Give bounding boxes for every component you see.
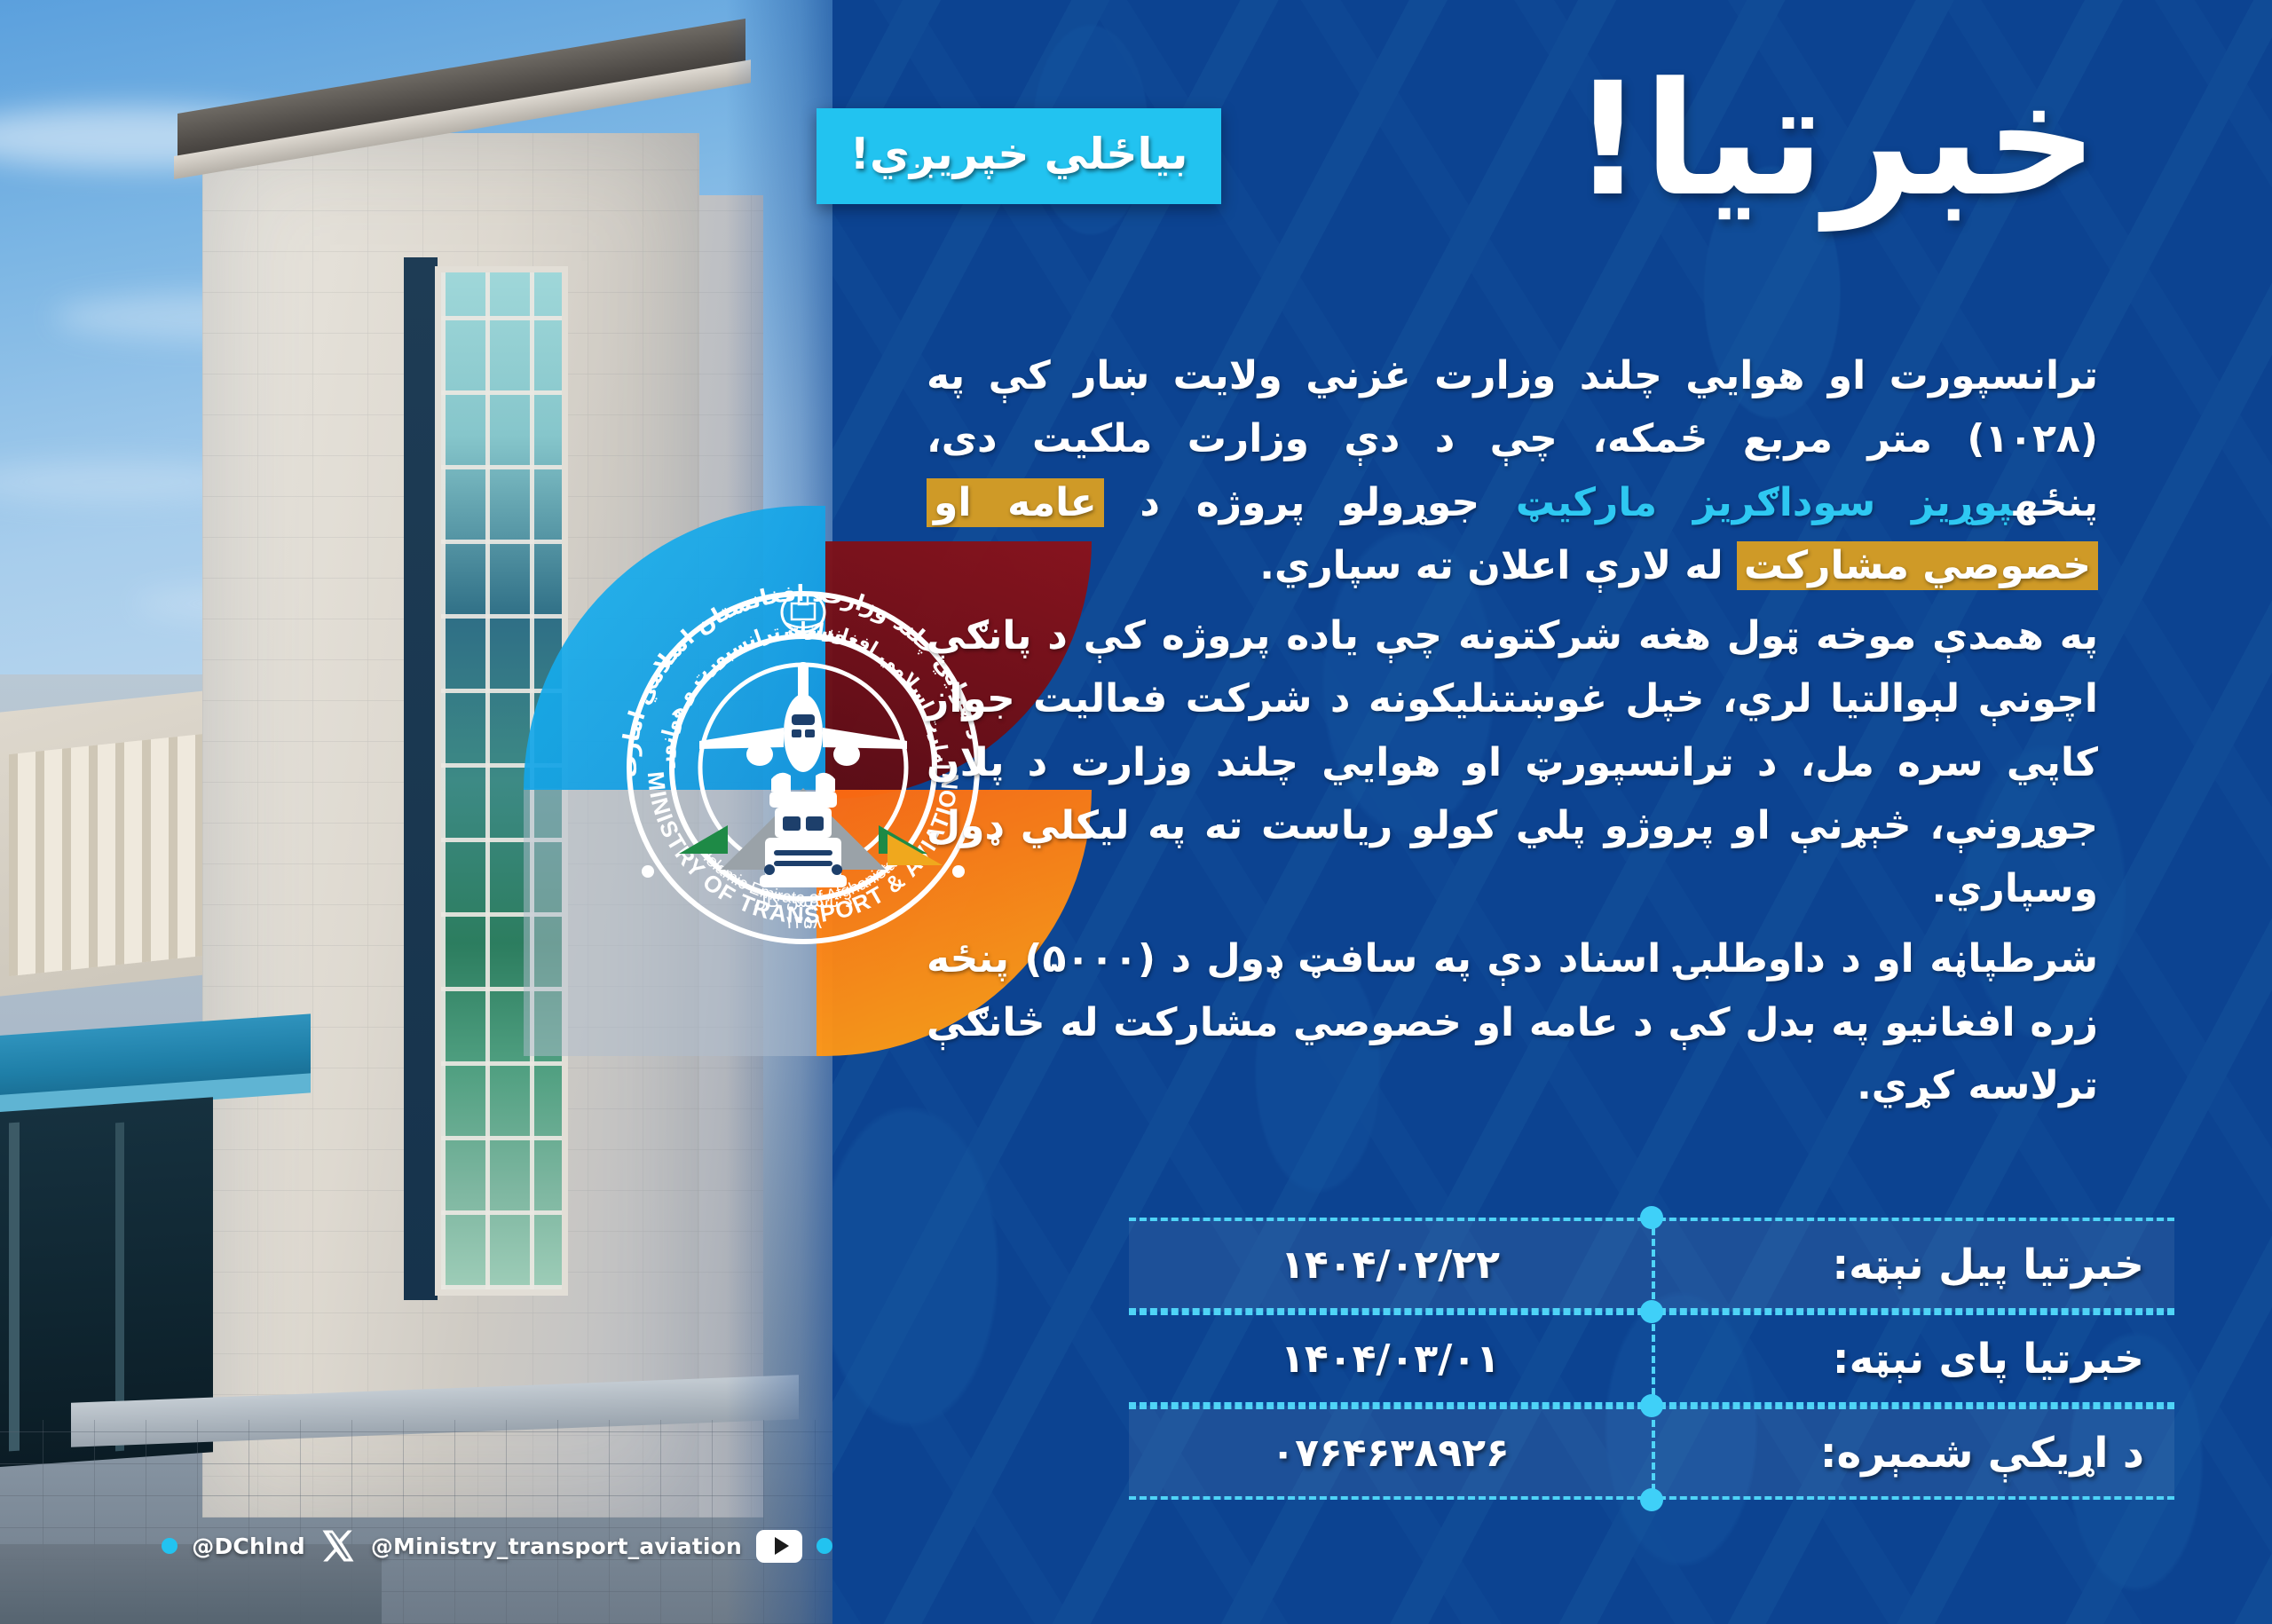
door-frame: [9, 1123, 20, 1452]
airplane-icon: [699, 662, 907, 772]
p1-part-c: جوړولو پروژه د: [1104, 480, 1516, 525]
badge-label: بیاځلي خپریږي!: [850, 132, 1188, 181]
social-bar: @Ministry_transport_aviation @DChlnd: [0, 1519, 832, 1573]
table-vertical-divider: [1652, 1218, 1655, 1502]
row-value: ۱۴۰۴/۰۲/۲۲: [1129, 1242, 1652, 1288]
p1-part-e: له لارې اعلان ته سپاري.: [1259, 543, 1737, 588]
poster-canvas: @Ministry_transport_aviation @DChlnd د ا…: [0, 0, 2272, 1624]
row-label: خبرتیا پیل نېټه:: [1652, 1241, 2174, 1289]
page-title: خبرتیا!: [1573, 62, 2098, 218]
divider-dot-icon: [1640, 1300, 1663, 1323]
paragraph-3: شرطپاڼه او د داوطلبۍ اسناد دې په سافټ ډو…: [927, 927, 2098, 1117]
row-label: د اړیکې شمېره:: [1652, 1429, 2174, 1478]
announcement-body: ترانسپورت او هوايي چلند وزارت غزني ولايت…: [927, 344, 2098, 1124]
paragraph-2: په همدې موخه ټول هغه شرکتونه چې یاده پرو…: [927, 604, 2098, 920]
bullet-dot-icon: [162, 1538, 177, 1554]
bullet-dot-icon: [816, 1538, 832, 1554]
x-twitter-icon[interactable]: [319, 1527, 357, 1565]
divider-dot-icon: [1640, 1206, 1663, 1229]
republish-badge: بیاځلي خپریږي!: [816, 108, 1221, 204]
row-value: ۱۴۰۴/۰۳/۰۱: [1129, 1336, 1652, 1382]
youtube-handle[interactable]: @Ministry_transport_aviation: [371, 1533, 742, 1559]
paragraph-1: ترانسپورت او هوايي چلند وزارت غزني ولايت…: [927, 344, 2098, 597]
youtube-icon[interactable]: [756, 1530, 802, 1563]
info-table: خبرتیا پیل نېټه: ۱۴۰۴/۰۲/۲۲ خبرتیا پای ن…: [1129, 1218, 2174, 1502]
row-value: ۰۷۶۴۶۳۸۹۲۶: [1129, 1431, 1652, 1476]
p1-part-b-cyan: پوړيز سوداګريز مارکيټ: [1516, 480, 2014, 525]
divider-dot-icon: [1640, 1394, 1663, 1417]
emblem-founded-label: د تاسیس کال: [753, 890, 853, 911]
row-label: خبرتیا پای نېټه:: [1652, 1335, 2174, 1384]
x-handle[interactable]: @DChlnd: [192, 1533, 305, 1559]
window-reveal: [404, 257, 438, 1300]
emblem-separator-dot: [642, 865, 654, 878]
divider-dot-icon: [1640, 1488, 1663, 1511]
emblem-founded-year: ۱۳۵۸: [785, 911, 823, 933]
building-facade-grille: [9, 733, 213, 976]
